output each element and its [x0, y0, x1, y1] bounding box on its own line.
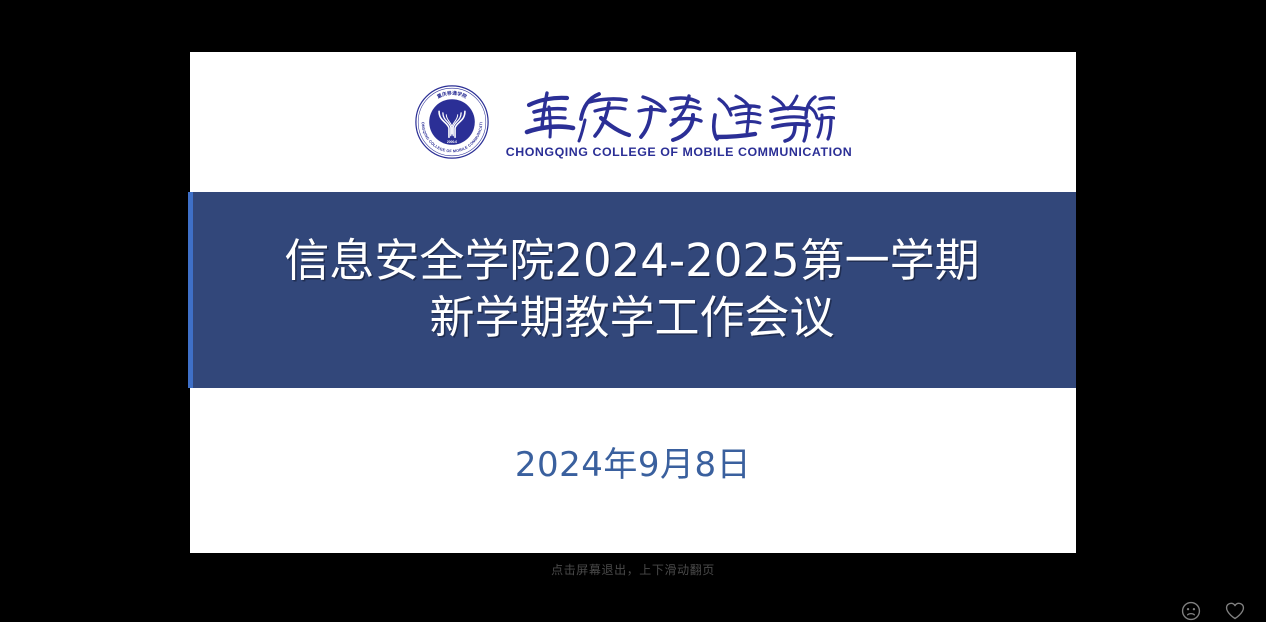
school-seal-icon: 重庆移通学院 CHONGQING COLLEGE OF MOBILE COMMU… [414, 84, 490, 160]
title-band-accent-stripe [188, 192, 193, 388]
heart-icon[interactable] [1224, 600, 1246, 622]
presentation-slide[interactable]: 重庆移通学院 CHONGQING COLLEGE OF MOBILE COMMU… [190, 52, 1076, 553]
svg-text:2000.6: 2000.6 [447, 140, 457, 144]
svg-text:重庆移通学院: 重庆移通学院 [436, 90, 468, 101]
wordmark-calligraphy-cn [523, 87, 835, 145]
slide-title-line-2: 新学期教学工作会议 [429, 290, 834, 347]
viewer-action-bar [1180, 600, 1246, 622]
school-wordmark: CHONGQING COLLEGE OF MOBILE COMMUNICATIO… [506, 87, 853, 158]
slide-viewer[interactable]: 重庆移通学院 CHONGQING COLLEGE OF MOBILE COMMU… [0, 0, 1266, 622]
slide-title-band: 信息安全学院2024-2025第一学期 新学期教学工作会议 [188, 192, 1076, 388]
slide-date-area: 2024年9月8日 [190, 388, 1076, 553]
emoji-face-icon[interactable] [1180, 600, 1202, 622]
wordmark-text-en: CHONGQING COLLEGE OF MOBILE COMMUNICATIO… [506, 146, 853, 158]
viewer-hint-text: 点击屏幕退出，上下滑动翻页 [0, 562, 1266, 578]
slide-date: 2024年9月8日 [515, 437, 751, 486]
slide-title-line-1: 信息安全学院2024-2025第一学期 [284, 233, 979, 290]
institution-logo: 重庆移通学院 CHONGQING COLLEGE OF MOBILE COMMU… [190, 52, 1076, 192]
